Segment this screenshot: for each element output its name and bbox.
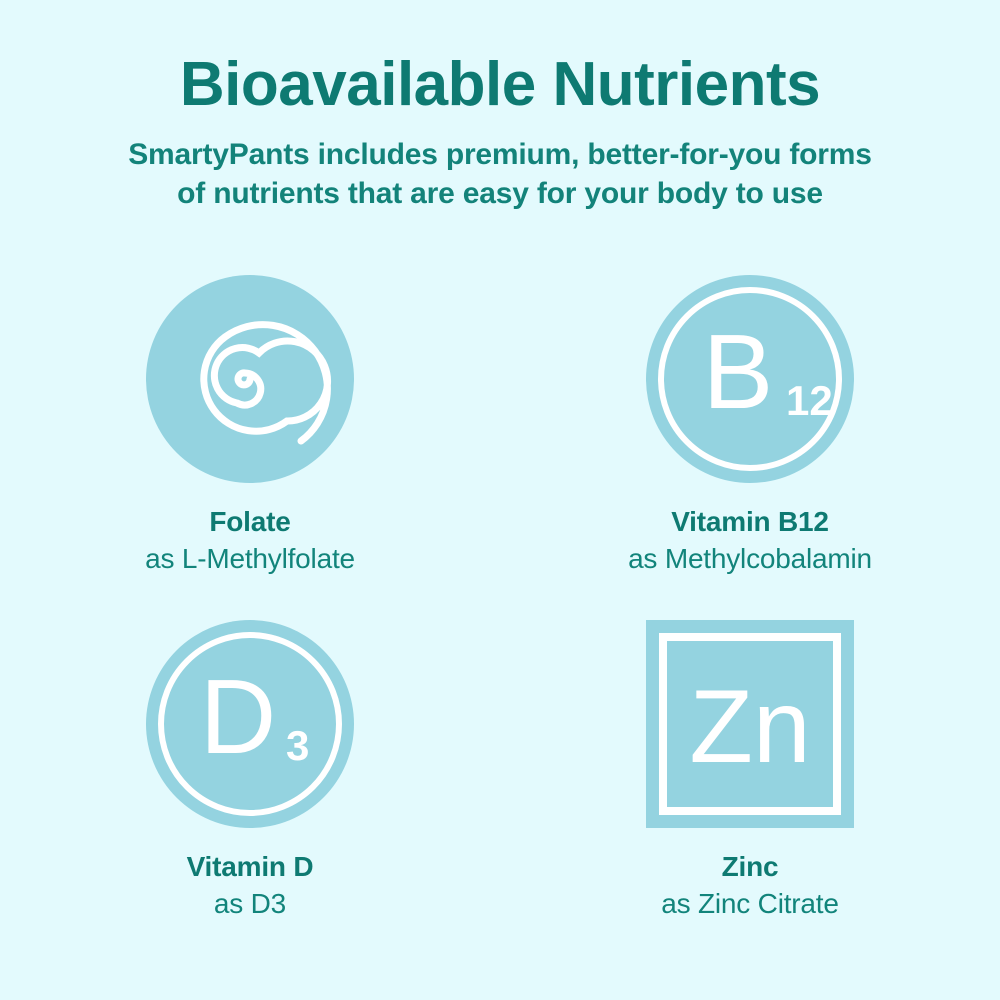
nutrient-form: as Methylcobalamin [628, 542, 872, 576]
card-labels: Vitamin D as D3 [187, 850, 314, 921]
subtitle-line-2: of nutrients that are easy for your body… [50, 174, 950, 213]
nutrient-name: Folate [145, 505, 355, 539]
nutrient-name: Zinc [661, 850, 839, 884]
nutrient-form: as Zinc Citrate [661, 887, 839, 921]
nutrient-name: Vitamin B12 [628, 505, 872, 539]
header: Bioavailable Nutrients SmartyPants inclu… [0, 52, 1000, 213]
icon-glyph-letter: D [200, 658, 277, 776]
nutrient-card-zinc: Zn Zinc as Zinc Citrate [500, 620, 1000, 965]
nutrient-card-vitamin-d: D 3 Vitamin D as D3 [0, 620, 500, 965]
nutrient-name: Vitamin D [187, 850, 314, 884]
card-labels: Vitamin B12 as Methylcobalamin [628, 505, 872, 576]
spiral-circle-icon [146, 275, 354, 483]
icon-glyph-letter: Zn [689, 669, 810, 785]
icon-glyph-subscript: 3 [286, 722, 309, 769]
nutrient-card-folate: Folate as L-Methylfolate [0, 275, 500, 620]
zinc-square-icon: Zn [646, 620, 854, 828]
nutrient-card-vitamin-b12: B 12 Vitamin B12 as Methylcobalamin [500, 275, 1000, 620]
nutrient-form: as L-Methylfolate [145, 542, 355, 576]
d3-circle-icon: D 3 [146, 620, 354, 828]
b12-circle-icon: B 12 [646, 275, 854, 483]
card-labels: Zinc as Zinc Citrate [661, 850, 839, 921]
card-labels: Folate as L-Methylfolate [145, 505, 355, 576]
icon-glyph-letter: B [703, 313, 774, 431]
subtitle-line-1: SmartyPants includes premium, better-for… [50, 135, 950, 174]
nutrient-form: as D3 [187, 887, 314, 921]
icon-glyph-subscript: 12 [786, 377, 833, 424]
page-subtitle: SmartyPants includes premium, better-for… [50, 135, 950, 213]
page-title: Bioavailable Nutrients [0, 52, 1000, 117]
infographic-page: Bioavailable Nutrients SmartyPants inclu… [0, 0, 1000, 1000]
nutrient-grid: Folate as L-Methylfolate B 12 Vitamin B1… [0, 275, 1000, 965]
